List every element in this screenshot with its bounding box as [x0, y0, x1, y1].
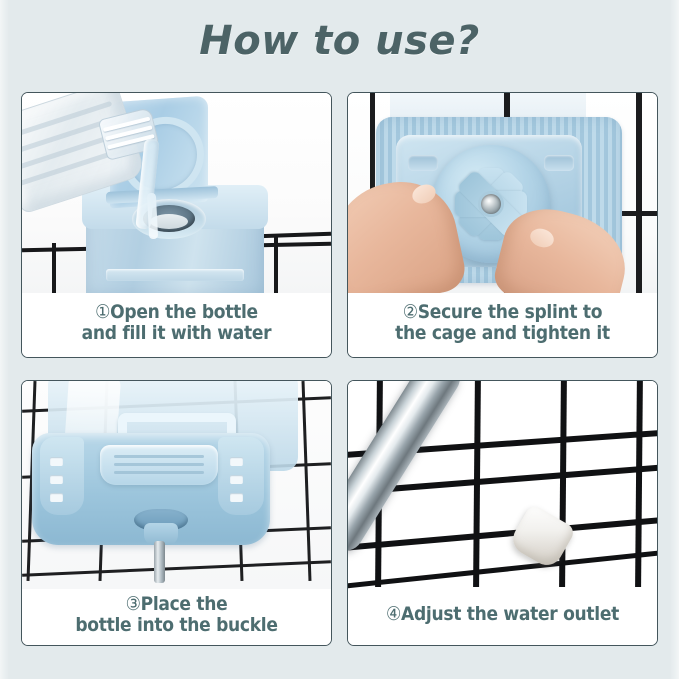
steps-grid: ①Open the bottleand fill it with water — [21, 92, 658, 646]
step-2-line-2: the cage and tighten it — [395, 322, 610, 344]
cradle-front-plate — [100, 445, 218, 485]
step-4-photo — [348, 381, 657, 589]
step-number-2: ② — [403, 302, 418, 323]
cage-wire-vertical — [52, 243, 56, 293]
step-number-1: ① — [95, 302, 110, 323]
step-3-line-2: bottle into the buckle — [75, 614, 277, 636]
plate-slot — [544, 155, 574, 171]
step-4-caption-text: ④Adjust the water outlet — [386, 604, 619, 625]
cradle-vent — [230, 457, 243, 466]
step-card-3[interactable]: ③Place thebottle into the buckle — [21, 380, 332, 646]
step-1-caption-text: ①Open the bottleand fill it with water — [82, 302, 272, 345]
plate-slot — [408, 155, 438, 171]
cradle-vent — [50, 475, 63, 484]
step-2-line-1: Secure the splint to — [418, 301, 602, 323]
step-4-caption: ④Adjust the water outlet — [348, 589, 657, 645]
step-card-4[interactable]: ④Adjust the water outlet — [347, 380, 658, 646]
step-2-caption: ②Secure the splint tothe cage and tighte… — [348, 293, 657, 357]
cradle-vent — [230, 475, 243, 484]
page-edge-left — [0, 0, 9, 679]
step-3-line-1: Place the — [141, 593, 228, 615]
knob-screw-hub — [478, 191, 504, 217]
page-title: How to use? — [0, 18, 679, 64]
cradle-vent — [50, 493, 63, 502]
step-1-line-1: Open the bottle — [110, 301, 258, 323]
step-2-photo — [348, 93, 657, 293]
step-number-4: ④ — [386, 604, 401, 625]
step-number-3: ③ — [126, 594, 141, 615]
step-card-1[interactable]: ①Open the bottleand fill it with water — [21, 92, 332, 358]
cage-wire-vertical — [274, 235, 278, 293]
cage-wire-vertical — [636, 93, 642, 293]
page-edge-right — [670, 0, 679, 679]
step-1-caption: ①Open the bottleand fill it with water — [22, 293, 331, 357]
step-1-photo — [22, 93, 331, 293]
step-1-line-2: and fill it with water — [82, 322, 272, 344]
steel-spout — [154, 541, 165, 583]
step-3-photo — [22, 381, 331, 589]
cradle-vent — [230, 493, 243, 502]
step-4-line-1: Adjust the water outlet — [401, 603, 619, 625]
step-3-caption: ③Place thebottle into the buckle — [22, 589, 331, 645]
cradle-vent — [50, 457, 63, 466]
step-2-caption-text: ②Secure the splint tothe cage and tighte… — [395, 302, 610, 345]
infographic-page: How to use? — [0, 0, 679, 679]
step-card-2[interactable]: ②Secure the splint tothe cage and tighte… — [347, 92, 658, 358]
step-3-caption-text: ③Place thebottle into the buckle — [75, 594, 277, 637]
